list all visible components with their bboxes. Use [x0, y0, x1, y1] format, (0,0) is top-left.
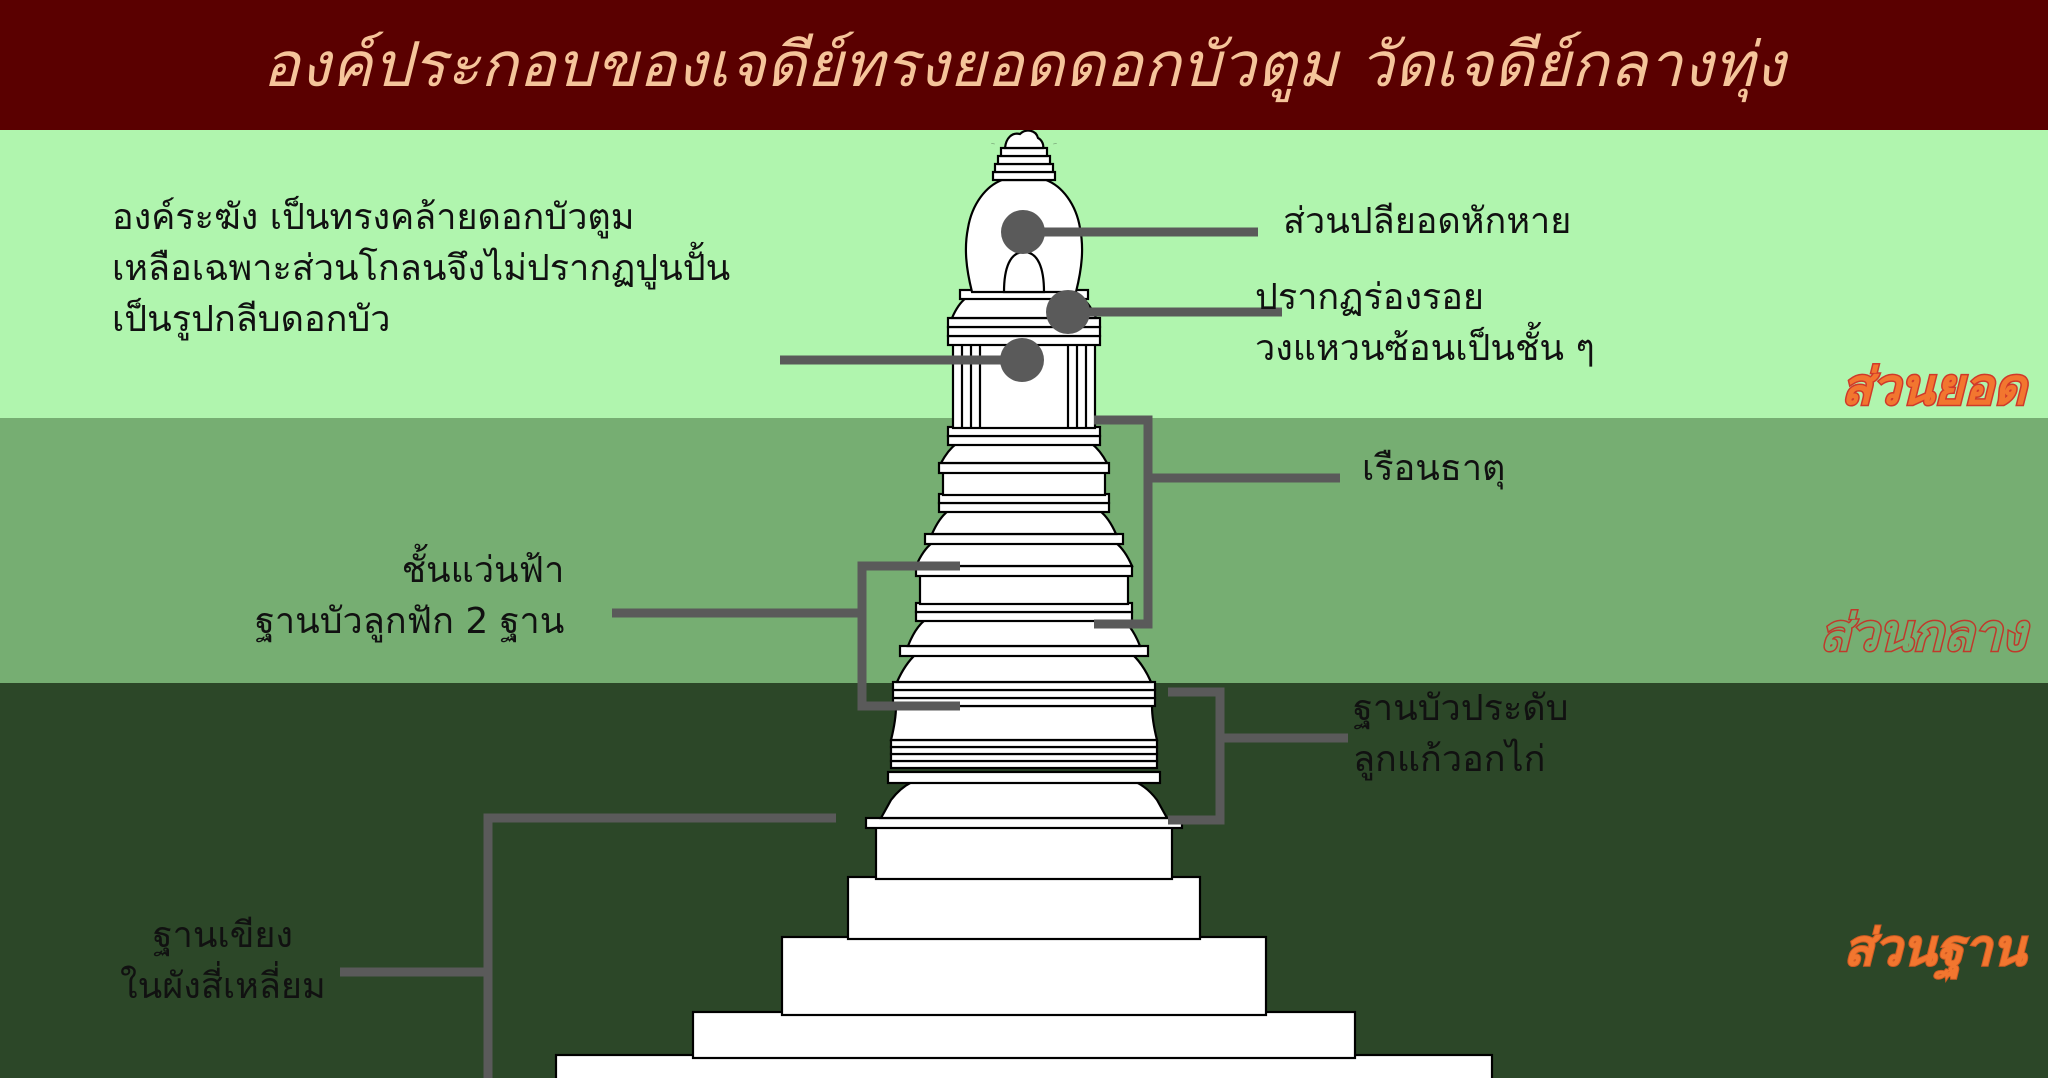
- section-label-than: ส่วนฐาน: [1843, 923, 2026, 973]
- bracket-waenfa: [862, 566, 960, 706]
- leader-dot-rings: [1046, 290, 1090, 334]
- leader-dot-bell: [1000, 338, 1044, 382]
- annotation-waenfa-line-1: ชั้นแว่นฟ้า: [255, 545, 564, 596]
- bracket-ruean-that: [1094, 420, 1148, 624]
- annotation-waenfa-line-2: ฐานบัวลูกฟัก 2 ฐาน: [255, 596, 564, 647]
- annotation-bell-line-3: เป็นรูปกลีบดอกบัว: [112, 294, 730, 345]
- leader-dot-spire: [1001, 210, 1045, 254]
- annotation-ruean-that-line-1: เรือนธาตุ: [1362, 443, 1505, 494]
- annotation-lotus-base-line-2: ลูกแก้วอกไก่: [1353, 734, 1569, 785]
- annotation-waenfa: ชั้นแว่นฟ้า ฐานบัวลูกฟัก 2 ฐาน: [255, 545, 564, 647]
- annotation-bell-line-1: องค์ระฆัง เป็นทรงคล้ายดอกบัวตูม: [112, 192, 730, 243]
- annotation-rings: ปรากฏร่องรอย วงแหวนซ้อนเป็นชั้น ๆ: [1255, 272, 1595, 374]
- annotation-lotus-base: ฐานบัวประดับ ลูกแก้วอกไก่: [1353, 683, 1569, 785]
- infographic-page: องค์ประกอบของเจดีย์ทรงยอดดอกบัวตูม วัดเจ…: [0, 0, 2048, 1078]
- annotation-ruean-that: เรือนธาตุ: [1362, 443, 1505, 494]
- annotation-khiang-base-line-2: ในผังสี่เหลี่ยม: [120, 961, 326, 1012]
- annotation-bell: องค์ระฆัง เป็นทรงคล้ายดอกบัวตูม เหลือเฉพ…: [112, 192, 730, 345]
- annotation-broken-spire-line-1: ส่วนปลียอดหักหาย: [1283, 196, 1571, 247]
- section-label-yod: ส่วนยอด: [1841, 362, 2026, 412]
- annotation-khiang-base: ฐานเขียง ในผังสี่เหลี่ยม: [120, 910, 326, 1012]
- annotation-rings-line-1: ปรากฏร่องรอย: [1255, 272, 1595, 323]
- annotation-bell-line-2: เหลือเฉพาะส่วนโกลนจึงไม่ปรากฏปูนปั้น: [112, 243, 730, 294]
- page-title: องค์ประกอบของเจดีย์ทรงยอดดอกบัวตูม วัดเจ…: [262, 32, 1785, 97]
- title-bar: องค์ประกอบของเจดีย์ทรงยอดดอกบัวตูม วัดเจ…: [0, 0, 2048, 130]
- annotation-khiang-base-line-1: ฐานเขียง: [120, 910, 326, 961]
- annotation-rings-line-2: วงแหวนซ้อนเป็นชั้น ๆ: [1255, 323, 1595, 374]
- section-label-klang: ส่วนกลาง: [1820, 608, 2026, 658]
- bracket-lotus-base: [1168, 692, 1220, 820]
- annotation-broken-spire: ส่วนปลียอดหักหาย: [1283, 196, 1571, 247]
- bracket-khiang: [488, 818, 836, 1078]
- annotation-lotus-base-line-1: ฐานบัวประดับ: [1353, 683, 1569, 734]
